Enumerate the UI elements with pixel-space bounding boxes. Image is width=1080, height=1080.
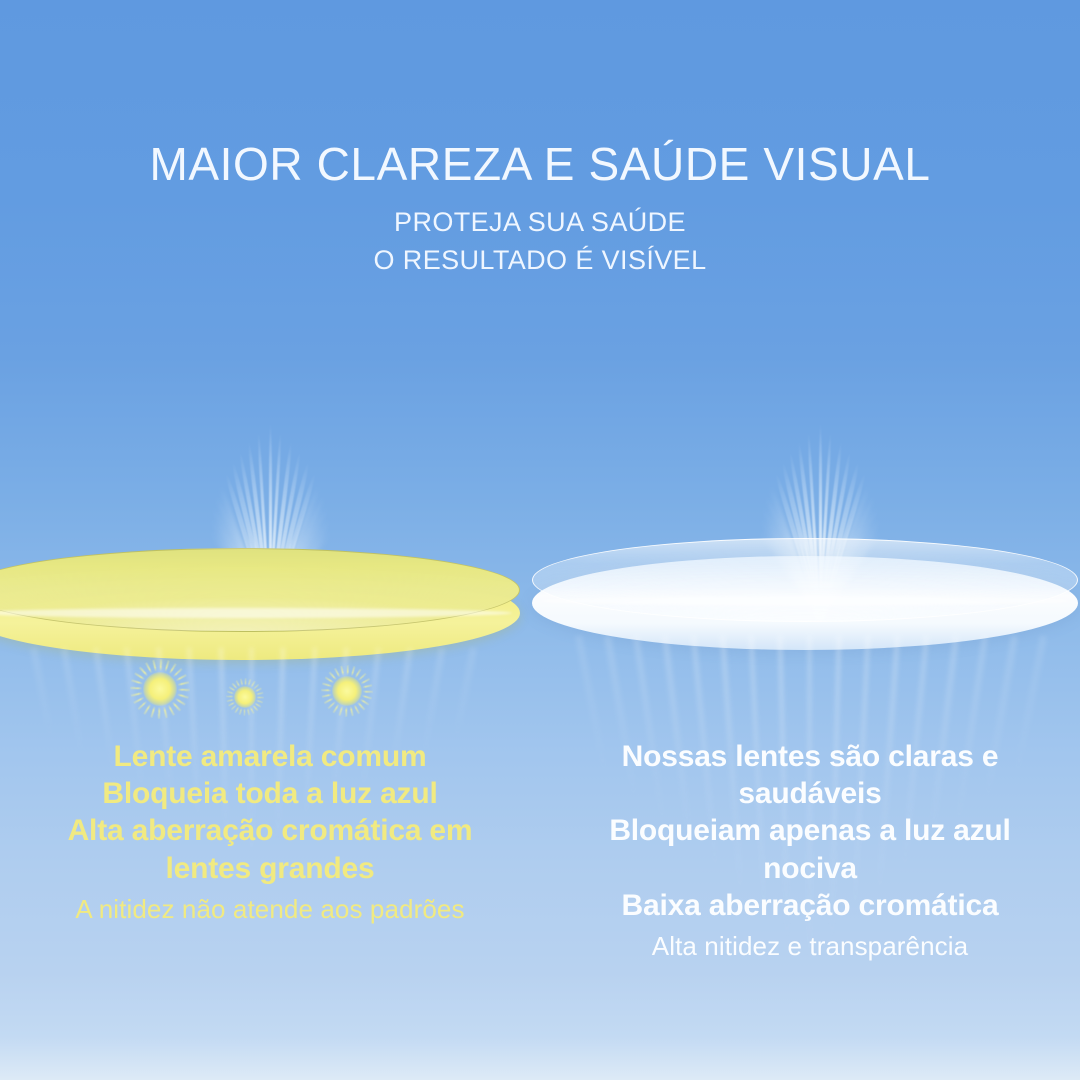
caption-left-line-3: lentes grandes <box>6 850 534 887</box>
sparkle-icon <box>332 676 362 706</box>
clear-lens-seam <box>540 596 1070 606</box>
subtitle-line-1: PROTEJA SUA SAÚDE <box>0 203 1080 241</box>
clear-lens-surface <box>532 538 1078 622</box>
sparkle-icon <box>234 686 256 708</box>
caption-right-line-4: Baixa aberração cromática <box>540 887 1080 924</box>
light-ray-icon <box>30 647 55 742</box>
caption-right-line-2: Bloqueiam apenas a luz azul <box>540 812 1080 849</box>
caption-left: Lente amarela comum Bloqueia toda a luz … <box>6 738 534 925</box>
caption-right-line-3: nociva <box>540 850 1080 887</box>
subtitle-block: PROTEJA SUA SAÚDE O RESULTADO É VISÍVEL <box>0 203 1080 280</box>
caption-left-line-0: Lente amarela comum <box>6 738 534 775</box>
caption-right-line-1: saudáveis <box>540 775 1080 812</box>
caption-left-line-2: Alta aberração cromática em <box>6 812 534 849</box>
light-ray-icon <box>452 647 477 742</box>
caption-right: Nossas lentes são claras e saudáveis Blo… <box>540 738 1080 962</box>
header-block: MAIOR CLAREZA E SAÚDE VISUAL PROTEJA SUA… <box>0 138 1080 280</box>
yellow-lens <box>0 548 520 660</box>
clear-lens <box>532 538 1078 650</box>
sparkle-icon <box>143 672 177 706</box>
caption-left-footnote: A nitidez não atende aos padrões <box>6 893 534 925</box>
caption-right-line-0: Nossas lentes são claras e <box>540 738 1080 775</box>
comparison-infographic: MAIOR CLAREZA E SAÚDE VISUAL PROTEJA SUA… <box>0 0 1080 1080</box>
yellow-lens-seam <box>0 608 512 618</box>
caption-left-line-1: Bloqueia toda a luz azul <box>6 775 534 812</box>
caption-right-footnote: Alta nitidez e transparência <box>540 930 1080 962</box>
page-title: MAIOR CLAREZA E SAÚDE VISUAL <box>0 138 1080 191</box>
subtitle-line-2: O RESULTADO É VISÍVEL <box>0 241 1080 279</box>
